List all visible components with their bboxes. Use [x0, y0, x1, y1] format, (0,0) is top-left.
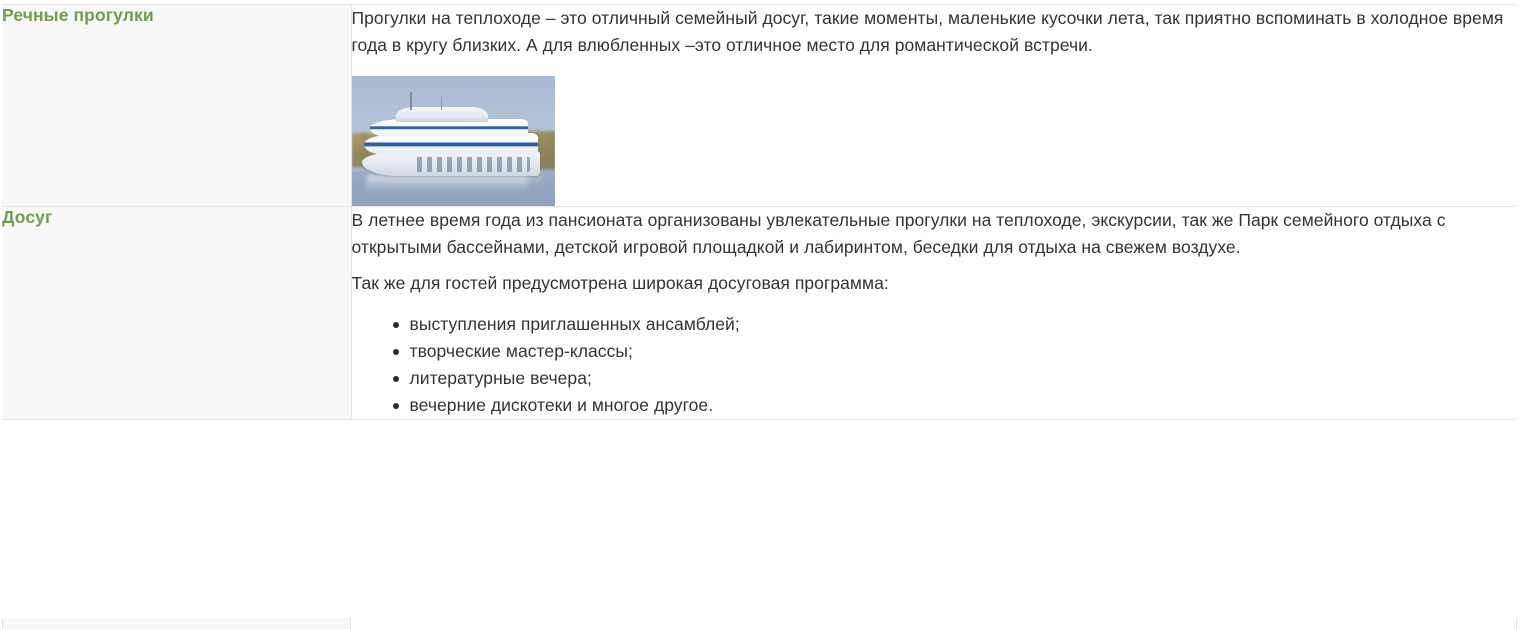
next-row-label-cell: [3, 618, 351, 629]
list-item: выступления приглашенных ансамблей;: [410, 311, 1518, 338]
row-content-cell-river-cruises: Прогулки на теплоходе – это отличный сем…: [351, 5, 1517, 207]
leisure-program-list: выступления приглашенных ансамблей; твор…: [352, 311, 1518, 419]
table-row: Досуг В летнее время года из пансионата …: [2, 207, 1517, 420]
river-cruise-ship-photo: [352, 76, 555, 206]
paragraph: Прогулки на теплоходе – это отличный сем…: [352, 5, 1518, 58]
ship-mast-secondary: [441, 97, 443, 110]
row-label-cell-leisure: Досуг: [2, 207, 351, 420]
table-row: Речные прогулки Прогулки на теплоходе – …: [2, 5, 1517, 207]
paragraph: Так же для гостей предусмотрена широкая …: [352, 270, 1518, 297]
next-table-row-partial: [2, 618, 1517, 629]
row-content-cell-leisure: В летнее время года из пансионата органи…: [351, 207, 1517, 420]
paragraph: В летнее время года из пансионата органи…: [352, 207, 1518, 260]
ship-window-row: [412, 157, 530, 173]
list-item: литературные вечера;: [410, 365, 1518, 392]
section-title: Речные прогулки: [2, 5, 351, 26]
photo-canvas: [352, 76, 555, 206]
info-table: Речные прогулки Прогулки на теплоходе – …: [2, 4, 1517, 420]
row-label-cell-river-cruises: Речные прогулки: [2, 5, 351, 207]
water-reflection: [366, 176, 528, 193]
document-page: Речные прогулки Прогулки на теплоходе – …: [0, 0, 1527, 629]
list-item: творческие мастер-классы;: [410, 338, 1518, 365]
ship-lower-deck: [364, 133, 539, 154]
list-item: вечерние дискотеки и многое другое.: [410, 392, 1518, 419]
ship-mast: [410, 92, 412, 110]
section-title: Досуг: [2, 207, 351, 228]
